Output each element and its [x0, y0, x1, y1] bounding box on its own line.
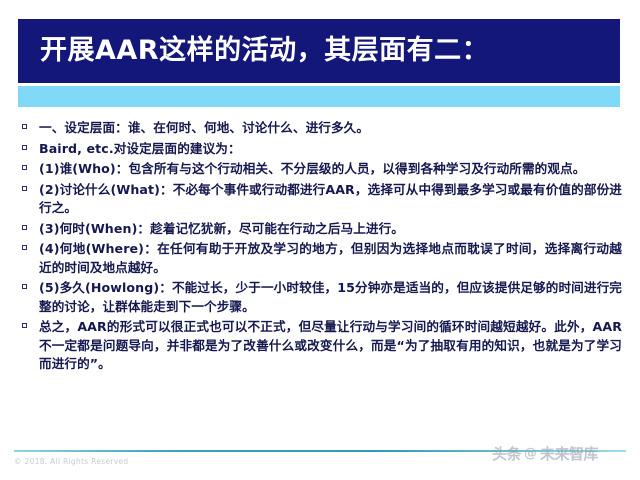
square-bullet-icon [22, 119, 39, 129]
list-item: Baird, etc.对设定层面的建议为： [22, 140, 622, 159]
bullet-who: (1)谁(Who)：包含所有与这个行动相关、不分层级的人员，以得到各种学习及行动… [39, 160, 622, 179]
bullet-list: 一、设定层面：谁、在何时、何地、讨论什么、进行多久。 Baird, etc.对设… [22, 119, 622, 376]
square-bullet-icon [22, 220, 39, 230]
title-accent-bar [18, 86, 620, 107]
square-bullet-icon [22, 140, 39, 150]
watermark: 头条 @ 未来智库 [492, 443, 598, 464]
list-item: (4)何地(Where)：在任何有助于开放及学习的地方，但别因为选择地点而耽误了… [22, 240, 622, 277]
square-bullet-icon [22, 160, 39, 170]
bullet-when: (3)何时(When)：趁着记忆犹新，尽可能在行动之后马上进行。 [39, 220, 622, 239]
bullet-what: (2)讨论什么(What)：不必每个事件或行动都进行AAR，选择可从中得到最多学… [39, 181, 622, 218]
at-sign-icon: @ [524, 446, 537, 461]
square-bullet-icon [22, 318, 39, 328]
copyright-text: © 2018. All Rights Reserved [14, 457, 128, 466]
bullet-baird-suggestion: Baird, etc.对设定层面的建议为： [39, 140, 622, 159]
square-bullet-icon [22, 279, 39, 289]
list-item: (1)谁(Who)：包含所有与这个行动相关、不分层级的人员，以得到各种学习及行动… [22, 160, 622, 179]
square-bullet-icon [22, 240, 39, 250]
presentation-slide: 开展AAR这样的活动，其层面有二： 一、设定层面：谁、在何时、何地、讨论什么、进… [0, 0, 640, 480]
list-item: 一、设定层面：谁、在何时、何地、讨论什么、进行多久。 [22, 119, 622, 138]
square-bullet-icon [22, 181, 39, 191]
list-item: (3)何时(When)：趁着记忆犹新，尽可能在行动之后马上进行。 [22, 220, 622, 239]
bullet-summary: 总之，AAR的形式可以很正式也可以不正式，但尽量让行动与学习间的循环时间越短越好… [39, 318, 622, 374]
list-item: (2)讨论什么(What)：不必每个事件或行动都进行AAR，选择可从中得到最多学… [22, 181, 622, 218]
watermark-suffix: 未来智库 [540, 443, 598, 464]
list-item: 总之，AAR的形式可以很正式也可以不正式，但尽量让行动与学习间的循环时间越短越好… [22, 318, 622, 374]
bullet-setting-level: 一、设定层面：谁、在何时、何地、讨论什么、进行多久。 [39, 119, 622, 138]
bullet-where: (4)何地(Where)：在任何有助于开放及学习的地方，但别因为选择地点而耽误了… [39, 240, 622, 277]
slide-title-block: 开展AAR这样的活动，其层面有二： [18, 19, 620, 107]
watermark-prefix: 头条 [492, 443, 521, 464]
title-banner: 开展AAR这样的活动，其层面有二： [18, 19, 620, 83]
bullet-howlong: (5)多久(Howlong)：不能过长，少于一小时较佳，15分钟亦是适当的，但应… [39, 279, 622, 316]
page-title: 开展AAR这样的活动，其层面有二： [40, 36, 489, 66]
list-item: (5)多久(Howlong)：不能过长，少于一小时较佳，15分钟亦是适当的，但应… [22, 279, 622, 316]
